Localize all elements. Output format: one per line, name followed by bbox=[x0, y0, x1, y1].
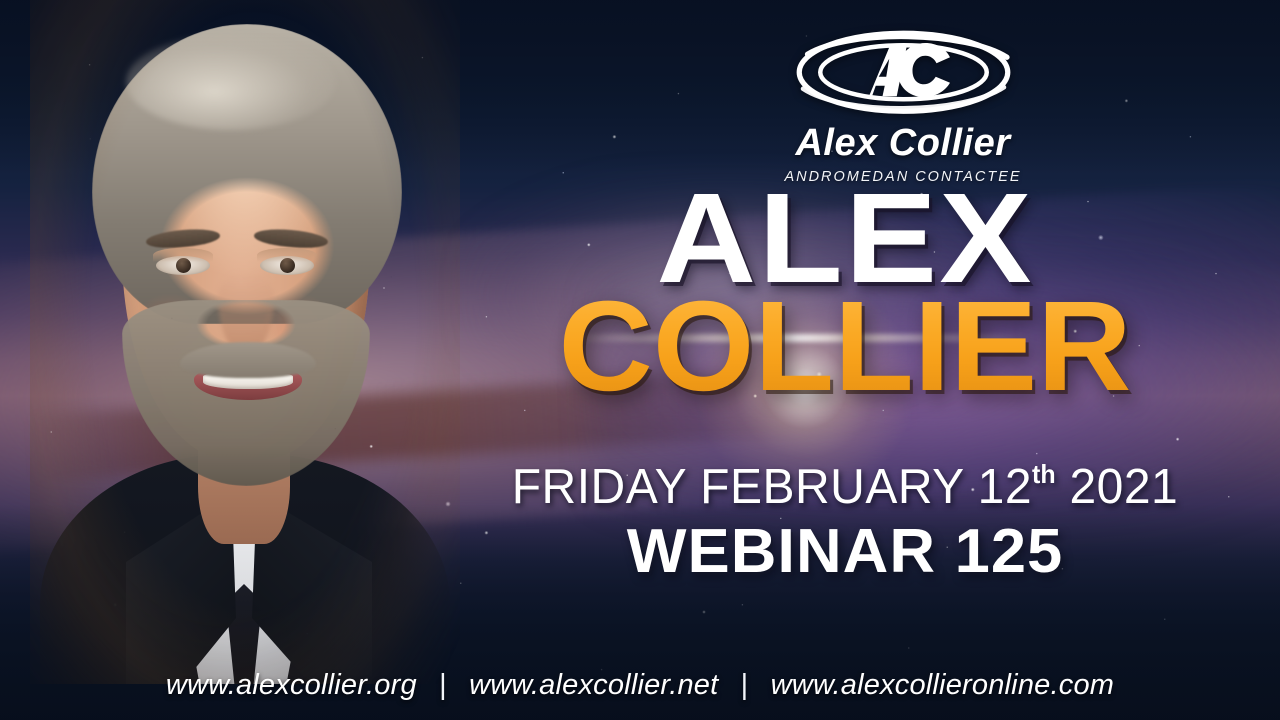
ac-ellipse-monogram-icon bbox=[791, 24, 1016, 122]
event-details: FRIDAY FEBRUARY 12th 2021 WEBINAR 125 bbox=[430, 462, 1260, 583]
hair-highlight bbox=[126, 34, 336, 130]
eyelid-right bbox=[257, 248, 317, 262]
mustache bbox=[180, 342, 316, 378]
event-date-ordinal: th bbox=[1032, 461, 1056, 489]
webinar-promo-poster: Alex Collier ANDROMEDAN CONTACTEE ALEX C… bbox=[0, 0, 1280, 720]
website-url-net[interactable]: www.alexcollier.net bbox=[469, 669, 718, 702]
website-url-org[interactable]: www.alexcollier.org bbox=[166, 669, 417, 702]
portrait-photo bbox=[30, 0, 460, 684]
headline-last-name: COLLIER bbox=[412, 296, 1279, 398]
brand-logo: Alex Collier ANDROMEDAN CONTACTEE bbox=[728, 24, 1078, 185]
footer: www.alexcollier.org | www.alexcollier.ne… bbox=[0, 669, 1280, 702]
url-separator-2: | bbox=[727, 669, 763, 702]
brand-name: Alex Collier bbox=[728, 124, 1078, 162]
headline: ALEX COLLIER bbox=[420, 188, 1270, 399]
url-separator-1: | bbox=[425, 669, 461, 702]
event-date-year: 2021 bbox=[1069, 460, 1178, 514]
eyelid-left bbox=[153, 248, 213, 262]
event-date-prefix: FRIDAY FEBRUARY 12 bbox=[512, 460, 1032, 514]
footer-url-list: www.alexcollier.org | www.alexcollier.ne… bbox=[166, 669, 1114, 702]
event-date: FRIDAY FEBRUARY 12th 2021 bbox=[438, 462, 1251, 513]
event-title: WEBINAR 125 bbox=[422, 520, 1269, 583]
website-url-online[interactable]: www.alexcollieronline.com bbox=[771, 669, 1114, 702]
